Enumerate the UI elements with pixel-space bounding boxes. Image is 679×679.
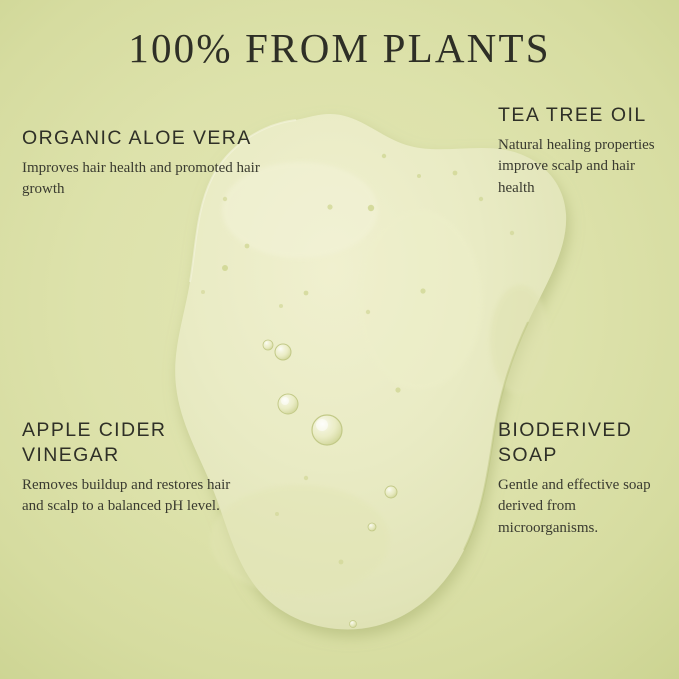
product-ingredients-poster: 100% FROM PLANTS — [0, 0, 679, 679]
gel-splash-image — [0, 0, 679, 679]
ingredient-block-tea-tree-oil: TEA TREE OIL Natural healing properties … — [498, 103, 673, 199]
ingredient-description: Natural healing properties improve scalp… — [498, 135, 673, 199]
ingredient-block-organic-aloe-vera: ORGANIC ALOE VERA Improves hair health a… — [22, 126, 282, 201]
ingredient-title: APPLE CIDER VINEGAR — [22, 418, 237, 468]
ingredient-title: ORGANIC ALOE VERA — [22, 126, 282, 151]
ingredient-title: BIODERIVED SOAP — [498, 418, 678, 468]
ingredient-block-bioderived-soap: BIODERIVED SOAP Gentle and effective soa… — [498, 418, 678, 539]
ingredient-description: Improves hair health and promoted hair g… — [22, 158, 282, 201]
ingredient-title: TEA TREE OIL — [498, 103, 673, 128]
ingredient-block-apple-cider-vinegar: APPLE CIDER VINEGAR Removes buildup and … — [22, 418, 237, 518]
ingredient-description: Gentle and effective soap derived from m… — [498, 475, 678, 539]
ingredient-description: Removes buildup and restores hair and sc… — [22, 475, 237, 518]
